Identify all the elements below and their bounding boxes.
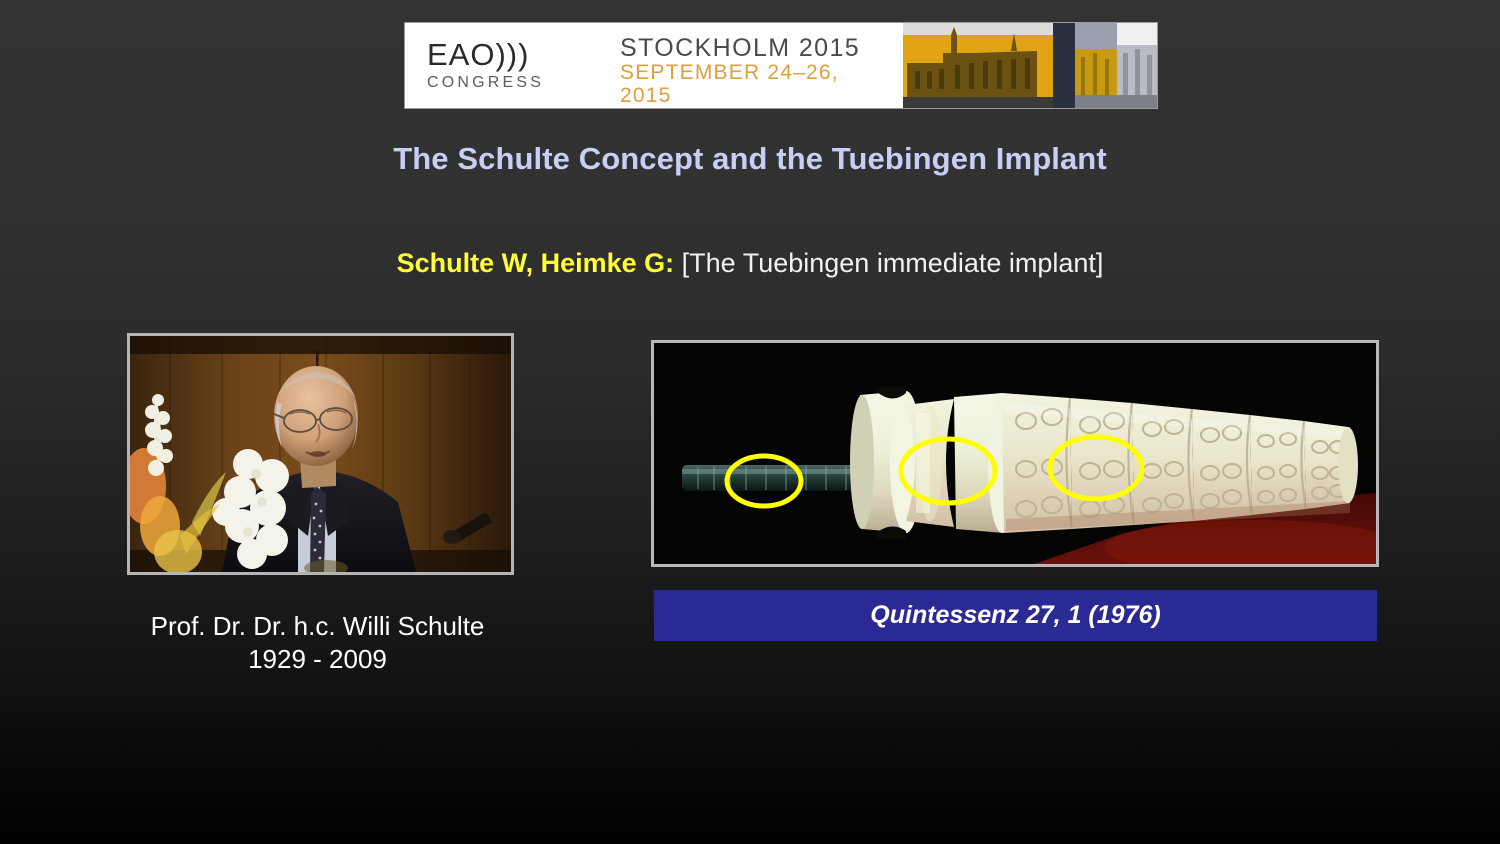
slide-title: The Schulte Concept and the Tuebingen Im… (0, 141, 1500, 177)
portrait-caption-years: 1929 - 2009 (60, 643, 575, 676)
citation-line: Schulte W, Heimke G: [The Tuebingen imme… (0, 248, 1500, 279)
portrait-caption: Prof. Dr. Dr. h.c. Willi Schulte 1929 - … (60, 610, 575, 677)
journal-citation-text: Quintessenz 27, 1 (1976) (870, 601, 1160, 630)
portrait-image-graphic (130, 336, 511, 572)
stockholm-cityhall-graphic (885, 23, 1157, 108)
citation-authors: Schulte W, Heimke G: (397, 248, 675, 278)
citation-work-title: [The Tuebingen immediate implant] (674, 248, 1103, 278)
implant-image-graphic (654, 343, 1376, 564)
banner-logo-area: EAO))) CONGRESS STOCKHOLM 2015 SEPTEMBER… (405, 23, 885, 108)
eao-congress-banner: EAO))) CONGRESS STOCKHOLM 2015 SEPTEMBER… (405, 23, 1157, 108)
banner-cityscape-image (885, 23, 1157, 108)
eao-wordmark: EAO))) (427, 37, 612, 73)
banner-city-line: STOCKHOLM 2015 (620, 35, 885, 61)
eao-logo: EAO))) CONGRESS (427, 37, 612, 95)
presentation-slide: EAO))) CONGRESS STOCKHOLM 2015 SEPTEMBER… (0, 0, 1500, 844)
banner-dates-line: SEPTEMBER 24–26, 2015 (620, 61, 885, 107)
banner-event-text: STOCKHOLM 2015 SEPTEMBER 24–26, 2015 EAO… (620, 35, 885, 108)
tuebingen-implant-photo (651, 340, 1379, 567)
schulte-portrait-photo (127, 333, 514, 575)
portrait-caption-name: Prof. Dr. Dr. h.c. Willi Schulte (60, 610, 575, 643)
journal-citation-bar: Quintessenz 27, 1 (1976) (654, 590, 1377, 641)
eao-congress-subtext: CONGRESS (427, 74, 612, 92)
